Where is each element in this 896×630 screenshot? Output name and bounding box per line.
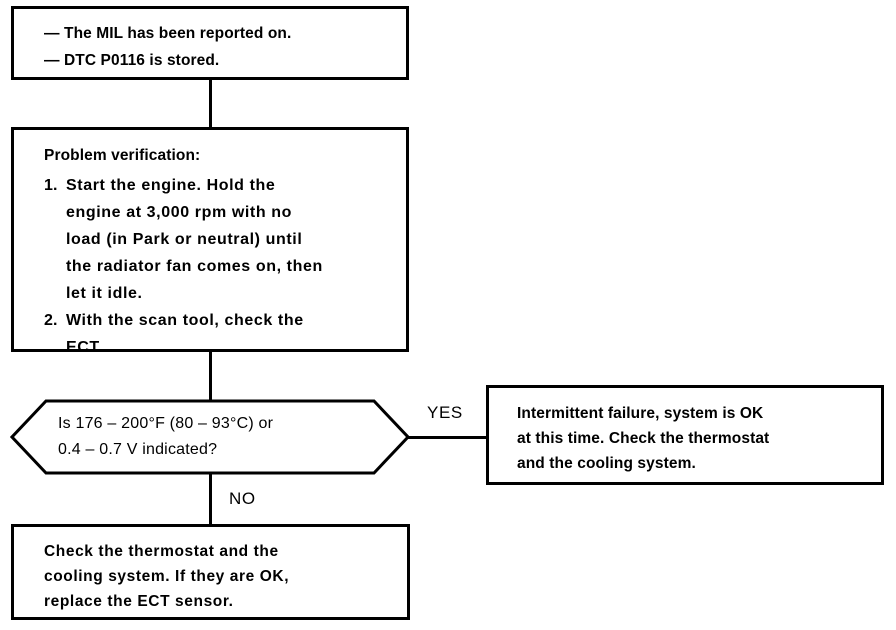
em-dash-icon: — xyxy=(44,51,64,71)
connector-verification-to-decision xyxy=(209,351,212,402)
problem-verification-box: Problem verification: 1. Start the engin… xyxy=(11,127,409,352)
connector-symptom-to-verification xyxy=(209,79,212,128)
check-thermostat-text: Check the thermostat and the cooling sys… xyxy=(44,539,394,614)
branch-label-no: NO xyxy=(229,489,256,509)
check-thermostat-box: Check the thermostat and the cooling sys… xyxy=(11,524,410,620)
flowchart-page: — The MIL has been reported on. — DTC P0… xyxy=(0,0,896,630)
intermittent-failure-box: Intermittent failure, system is OK at th… xyxy=(486,385,884,485)
verification-step: 1. Start the engine. Hold the engine at … xyxy=(44,172,323,307)
symptom-bullet-item: — DTC P0116 is stored. xyxy=(44,51,219,71)
symptom-bullet-item: — The MIL has been reported on. xyxy=(44,24,291,44)
step-number: 1. xyxy=(44,172,66,307)
step-text: Start the engine. Hold the engine at 3,0… xyxy=(66,172,323,307)
connector-decision-yes xyxy=(406,436,488,439)
step-number: 2. xyxy=(44,307,66,361)
connector-decision-no xyxy=(209,472,212,525)
step-text: With the scan tool, check the ECT. xyxy=(66,307,304,361)
intermittent-failure-text: Intermittent failure, system is OK at th… xyxy=(517,401,867,476)
symptom-box: — The MIL has been reported on. — DTC P0… xyxy=(11,6,409,80)
decision-question-text: Is 176 – 200°F (80 – 93°C) or 0.4 – 0.7 … xyxy=(58,411,378,463)
symptom-bullet-label: The MIL has been reported on. xyxy=(64,24,291,44)
symptom-bullet-label: DTC P0116 is stored. xyxy=(64,51,219,71)
em-dash-icon: — xyxy=(44,24,64,44)
branch-label-yes: YES xyxy=(427,403,463,423)
decision-hexagon: Is 176 – 200°F (80 – 93°C) or 0.4 – 0.7 … xyxy=(10,399,410,475)
verification-heading: Problem verification: xyxy=(44,146,200,166)
verification-step: 2. With the scan tool, check the ECT. xyxy=(44,307,304,361)
